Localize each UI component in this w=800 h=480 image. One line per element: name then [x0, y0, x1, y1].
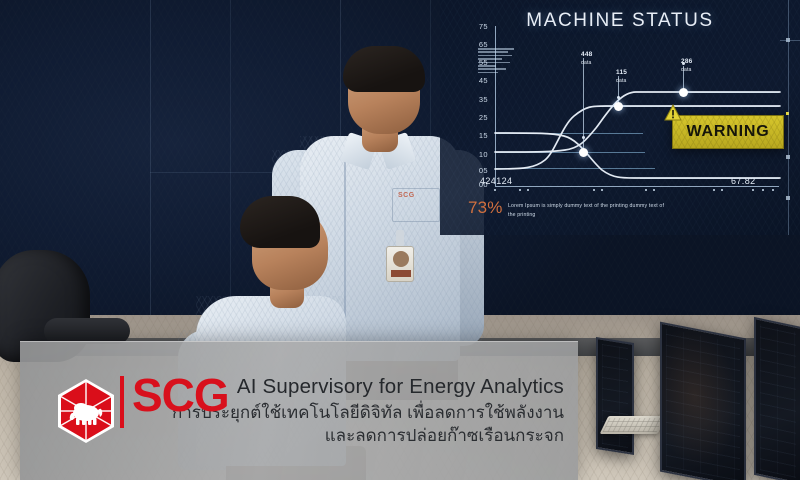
data-point-marker — [579, 148, 588, 157]
warning-label: WARNING — [687, 123, 770, 141]
badge-clip — [396, 230, 404, 246]
x-axis-value-right: 67.82 — [731, 176, 756, 186]
warning-triangle-icon — [664, 104, 682, 122]
hair — [343, 46, 425, 92]
marker-value: 286 — [681, 58, 692, 67]
scg-wordmark: SCG — [132, 372, 229, 418]
monitor-main — [660, 322, 746, 480]
percent-readout: 73% — [468, 198, 503, 218]
id-badge — [386, 246, 414, 282]
scg-logo[interactable]: SCG — [20, 342, 152, 480]
hud-caption: Lorem Ipsum is simply dummy text of the … — [508, 202, 668, 219]
hair — [240, 196, 320, 248]
marker-sublabel: data — [616, 78, 627, 84]
marker-sublabel: data — [581, 60, 592, 66]
data-point-marker — [614, 102, 623, 111]
title-banner: SCG AI Supervisory for Energy Analytics … — [20, 341, 578, 480]
monitor-dashboard-glow — [662, 324, 744, 480]
x-axis-value-left: 424124 — [480, 176, 512, 186]
monitor-screen-texture — [760, 324, 796, 478]
marker-minidot — [617, 96, 620, 99]
marker-label: 115 data — [616, 69, 627, 85]
headline-thai-line-2: และลดการปล่อยก๊าซเรือนกระจก — [152, 424, 564, 447]
badge-color-bar — [391, 270, 411, 277]
hud-side-line — [788, 0, 789, 235]
marker-label: 448 data — [581, 51, 592, 67]
screenshot-stage: SCG MACHINE STATUS 75 65 55 45 35 25 15 … — [0, 0, 800, 480]
badge-photo — [393, 251, 409, 267]
keyboard — [600, 416, 667, 434]
logo-divider-bar — [120, 376, 124, 428]
data-point-marker — [679, 88, 688, 97]
marker-value: 115 — [616, 69, 627, 78]
red-hexagon-elephant-icon — [55, 378, 117, 444]
monitor-right — [754, 317, 800, 480]
marker-connector — [583, 58, 584, 154]
status-badge[interactable]: WARNING — [672, 115, 784, 149]
marker-sublabel: data — [681, 67, 692, 73]
marker-minidot — [582, 136, 585, 139]
pocket-scg-logo: SCG — [398, 192, 415, 199]
marker-label: 286 data — [681, 58, 692, 74]
hud-side-line — [780, 40, 800, 41]
marker-value: 448 — [581, 51, 592, 60]
